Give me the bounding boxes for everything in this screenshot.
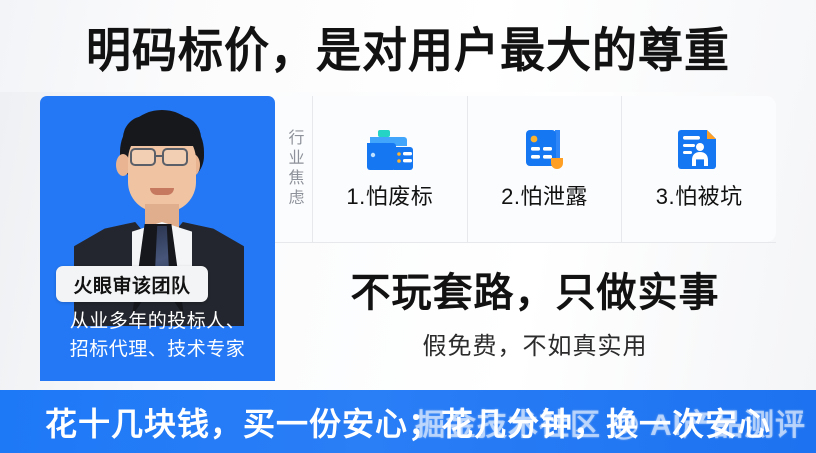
slogan-sub: 假免费，不如真实用 [423,326,648,361]
headline-bar: 明码标价，是对用户最大的尊重 [0,0,816,92]
document-person-icon [673,127,725,173]
folder-document-icon [364,127,416,173]
content-stage: 火眼审该团队 从业多年的投标人、 招标代理、技术专家 行业焦虑 [0,92,816,390]
concern-card-3[interactable]: 3.怕被坑 [622,96,776,242]
concern-card-2[interactable]: 2.怕泄露 [468,96,623,242]
bottom-banner: 花十几块钱，买一份安心；花几分钟，换一次安心 [0,390,816,453]
team-badge-label: 火眼审该团队 [73,271,190,298]
team-badge: 火眼审该团队 [56,266,208,302]
page-title: 明码标价，是对用户最大的尊重 [86,12,730,81]
concern-card-2-label: 2.怕泄露 [501,179,588,211]
profile-line-2: 招标代理、技术专家 [40,336,275,364]
concern-card-panel: 行业焦虑 1.怕废标 [275,96,776,242]
concern-card-3-label: 3.怕被坑 [656,179,743,211]
concern-card-1[interactable]: 1.怕废标 [313,96,468,242]
card-leak-icon [519,127,571,173]
profile-description: 从业多年的投标人、 招标代理、技术专家 [40,308,275,364]
profile-line-1: 从业多年的投标人、 [40,308,275,336]
vertical-section-label: 行业焦虑 [275,96,313,242]
profile-panel: 火眼审该团队 从业多年的投标人、 招标代理、技术专家 [40,96,275,381]
slogan-block: 不玩套路，只做实事 假免费，不如真实用 [275,250,795,370]
slogan-main: 不玩套路，只做实事 [351,260,720,318]
bottom-banner-text: 花十几块钱，买一份安心；花几分钟，换一次安心 [45,399,771,445]
section-divider [275,242,776,243]
vertical-section-label-text: 行业焦虑 [286,129,302,209]
concern-cards: 1.怕废标 2.怕泄露 [313,96,776,242]
concern-card-1-label: 1.怕废标 [346,179,433,211]
